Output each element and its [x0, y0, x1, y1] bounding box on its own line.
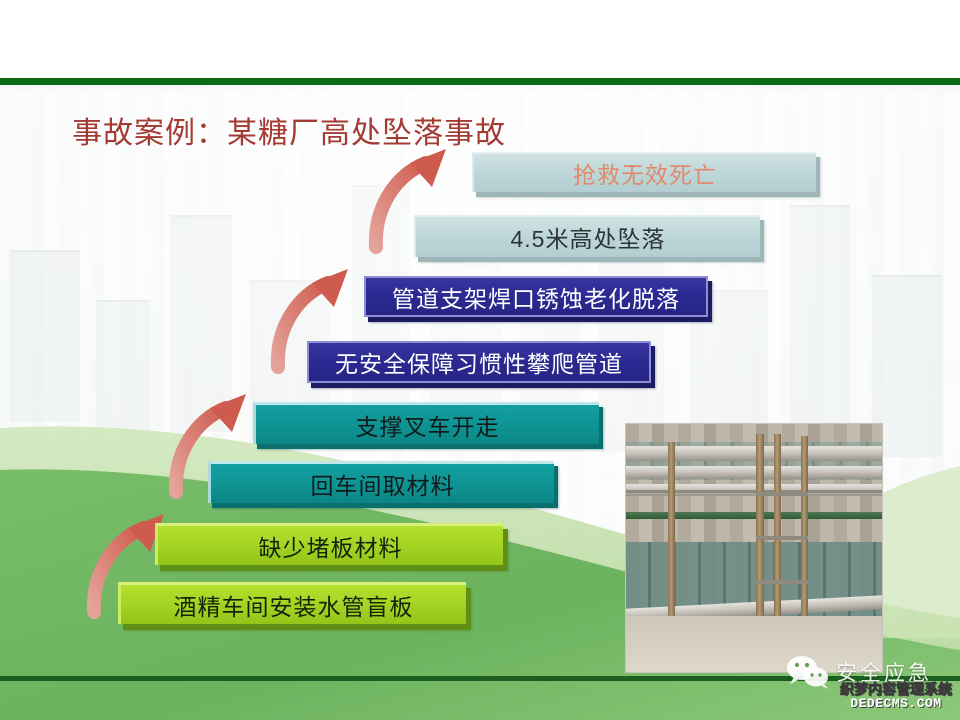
wechat-icon: [786, 655, 830, 689]
top-white-band: [0, 0, 960, 78]
flow-step-7-fall[interactable]: 4.5米高处坠落: [414, 215, 760, 257]
site-photo: [625, 423, 883, 673]
photo-ladder-rung-2: [756, 536, 808, 540]
watermark-en: DEDECMS.COM: [840, 697, 952, 711]
watermark-cn: 织梦内容管理系统: [840, 682, 952, 697]
page-title: 事故案例：某糖厂高处坠落事故: [72, 108, 506, 152]
flow-step-5-unsafe-climbing[interactable]: 无安全保障习惯性攀爬管道: [307, 341, 651, 383]
site-watermark: 织梦内容管理系统 DEDECMS.COM: [840, 682, 952, 710]
photo-ladder-rung-3: [756, 580, 808, 584]
photo-pipe-top: [625, 446, 883, 461]
photo-scaffold-rail: [626, 490, 882, 493]
flow-step-2-missing-blank-plate[interactable]: 缺少堵板材料: [155, 523, 503, 565]
top-green-rule: [0, 78, 960, 85]
flow-step-4-forklift-left[interactable]: 支撑叉车开走: [253, 402, 599, 444]
flow-step-6-bracket-corrosion[interactable]: 管道支架焊口锈蚀老化脱落: [364, 276, 708, 317]
flow-step-1-install-blind-plate[interactable]: 酒精车间安装水管盲板: [118, 582, 466, 624]
flow-step-8-death[interactable]: 抢救无效死亡: [472, 152, 816, 192]
flow-step-3-fetch-material[interactable]: 回车间取材料: [208, 461, 554, 503]
slide-canvas: 事故案例：某糖厂高处坠落事故: [0, 0, 960, 720]
photo-green-pipe: [625, 512, 883, 519]
photo-pipe-mid: [625, 466, 883, 479]
photo-ladder-rung-1: [756, 492, 808, 496]
